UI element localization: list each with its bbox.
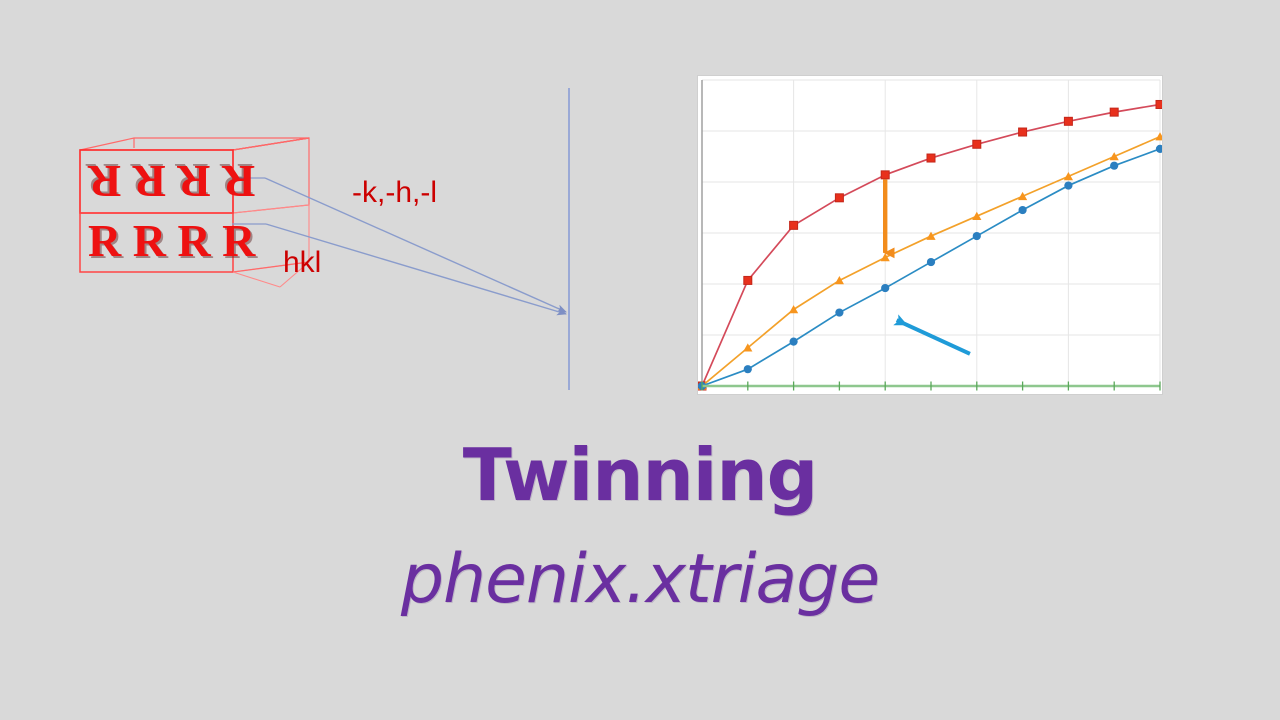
- data-point: [835, 308, 843, 316]
- lattice-letter-top-1: R R R R: [88, 158, 255, 204]
- data-point: [790, 221, 798, 229]
- data-point: [1155, 132, 1162, 140]
- data-point: [1156, 145, 1162, 153]
- data-point: [927, 154, 935, 162]
- series-baseline: [702, 382, 1160, 391]
- data-point: [973, 232, 981, 240]
- data-point: [881, 284, 889, 292]
- data-point: [1064, 172, 1073, 180]
- data-point: [835, 194, 843, 202]
- data-point: [927, 258, 935, 266]
- data-point: [1110, 152, 1119, 160]
- data-point: [835, 276, 844, 284]
- page-subtitle: phenix.xtriage: [0, 540, 1280, 619]
- data-point: [1110, 108, 1118, 116]
- data-point: [881, 253, 890, 261]
- data-point: [973, 140, 981, 148]
- data-point: [1064, 117, 1072, 125]
- chart-plot-area: [698, 76, 1162, 394]
- twin-operator-label: -k,-h,-l: [352, 176, 437, 210]
- data-point: [744, 365, 752, 373]
- slide-root: R R R R R R R R -k,-h,-l hkl Twinning ph…: [0, 0, 1280, 720]
- data-point: [972, 212, 981, 220]
- data-point: [1110, 162, 1118, 170]
- series-untwinned: [698, 100, 1162, 390]
- data-point: [1064, 181, 1072, 189]
- data-point: [1156, 100, 1162, 108]
- data-point: [1019, 206, 1027, 214]
- blue-left-arrow: [897, 320, 970, 354]
- lattice-letter-bottom-1: R R R R: [88, 218, 255, 264]
- data-point: [790, 338, 798, 346]
- data-point: [1019, 128, 1027, 136]
- data-point: [789, 305, 798, 313]
- hkl-index-label: hkl: [283, 246, 321, 280]
- data-point: [881, 171, 889, 179]
- cumulative-intensity-chart: [697, 75, 1163, 395]
- page-title: Twinning: [0, 433, 1280, 517]
- data-point: [744, 276, 752, 284]
- data-point: [1018, 192, 1027, 200]
